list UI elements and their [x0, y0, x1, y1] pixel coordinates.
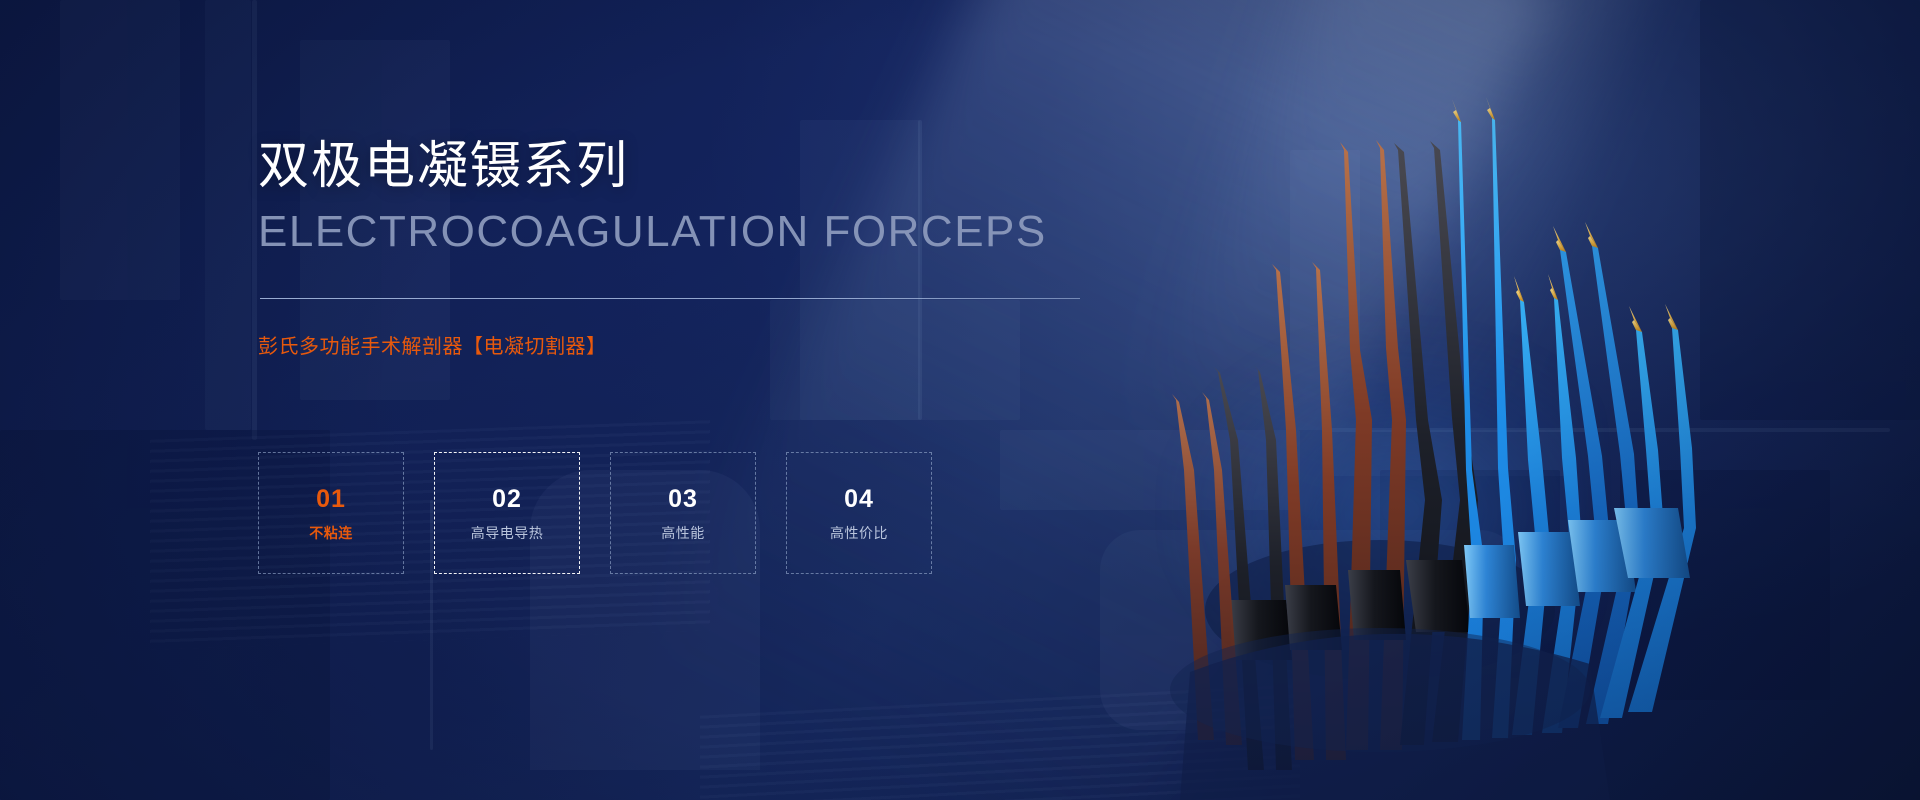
feature-list: 01 不粘连 02 高导电导热 03 高性能 04 高性价比: [258, 452, 932, 574]
feature-number: 01: [316, 487, 346, 512]
feature-label: 高导电导热: [471, 526, 544, 540]
title-divider: [260, 298, 1080, 299]
feature-item-04[interactable]: 04 高性价比: [786, 452, 932, 574]
feature-item-02[interactable]: 02 高导电导热: [434, 452, 580, 574]
feature-item-03[interactable]: 03 高性能: [610, 452, 756, 574]
product-image-forceps: [1080, 0, 1680, 800]
feature-number: 03: [668, 487, 698, 512]
product-subtitle: 彭氏多功能手术解剖器【电凝切割器】: [258, 337, 607, 357]
page-title-en: ELECTROCOAGULATION FORCEPS: [258, 210, 1047, 254]
hero-text-block: 双极电凝镊系列 ELECTROCOAGULATION FORCEPS 彭氏多功能…: [258, 0, 1138, 800]
feature-label: 不粘连: [309, 526, 353, 540]
feature-number: 04: [844, 487, 874, 512]
feature-label: 高性价比: [830, 526, 888, 540]
feature-item-01[interactable]: 01 不粘连: [258, 452, 404, 574]
page-title-cn: 双极电凝镊系列: [258, 140, 629, 191]
feature-number: 02: [492, 487, 522, 512]
product-hero-banner: 双极电凝镊系列 ELECTROCOAGULATION FORCEPS 彭氏多功能…: [0, 0, 1920, 800]
feature-label: 高性能: [661, 526, 705, 540]
